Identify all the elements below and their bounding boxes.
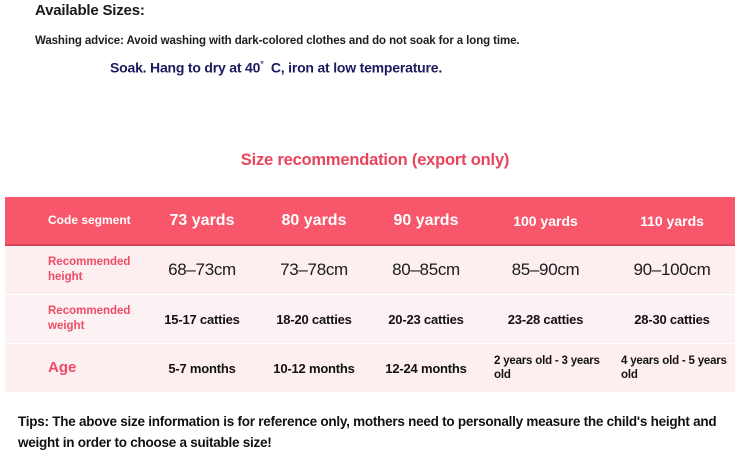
column-header-code-segment: Code segment [5,197,146,244]
table-row-recommended-weight: Recommended weight 15-17 catties 18-20 c… [5,295,735,344]
table-header-row: Code segment 73 yards 80 yards 90 yards … [5,197,735,246]
available-sizes-title: Available Sizes: [35,2,145,19]
cell-weight-110: 28-30 catties [609,295,735,343]
tips-text: Tips: The above size information is for … [18,412,730,454]
care-instruction-part1: Soak. Hang to dry at 40 [110,60,260,76]
cell-weight-80: 18-20 catties [258,295,370,343]
cell-weight-100: 23-28 catties [482,295,609,343]
column-header-90-yards: 90 yards [370,197,482,244]
row-label-recommended-height: Recommended height [5,246,146,294]
cell-age-80: 10-12 months [258,344,370,392]
column-header-80-yards: 80 yards [258,197,370,244]
table-row-age: Age 5-7 months 10-12 months 12-24 months… [5,344,735,393]
size-table: Code segment 73 yards 80 yards 90 yards … [5,197,735,393]
row-label-recommended-weight: Recommended weight [5,295,146,343]
cell-height-73: 68–73cm [146,246,258,294]
column-header-110-yards: 110 yards [609,197,735,244]
care-instruction-part2: C, iron at low temperature. [271,60,442,76]
cell-age-90: 12-24 months [370,344,482,392]
size-chart-page: Available Sizes: Washing advice: Avoid w… [0,0,750,469]
table-row-recommended-height: Recommended height 68–73cm 73–78cm 80–85… [5,246,735,295]
size-recommendation-title: Size recommendation (export only) [0,151,750,170]
column-header-100-yards: 100 yards [482,197,609,244]
column-header-73-yards: 73 yards [146,197,258,244]
cell-height-80: 73–78cm [258,246,370,294]
cell-height-110: 90–100cm [609,246,735,294]
cell-age-100: 2 years old - 3 years old [482,344,609,392]
care-instruction-text: Soak. Hang to dry at 40°C, iron at low t… [110,59,442,76]
cell-height-90: 80–85cm [370,246,482,294]
cell-height-100: 85–90cm [482,246,609,294]
row-label-age: Age [5,344,146,392]
washing-advice-text: Washing advice: Avoid washing with dark-… [35,35,519,47]
cell-weight-73: 15-17 catties [146,295,258,343]
degree-symbol: ° [260,59,264,69]
cell-age-110: 4 years old - 5 years old [609,344,735,392]
cell-age-73: 5-7 months [146,344,258,392]
cell-weight-90: 20-23 catties [370,295,482,343]
